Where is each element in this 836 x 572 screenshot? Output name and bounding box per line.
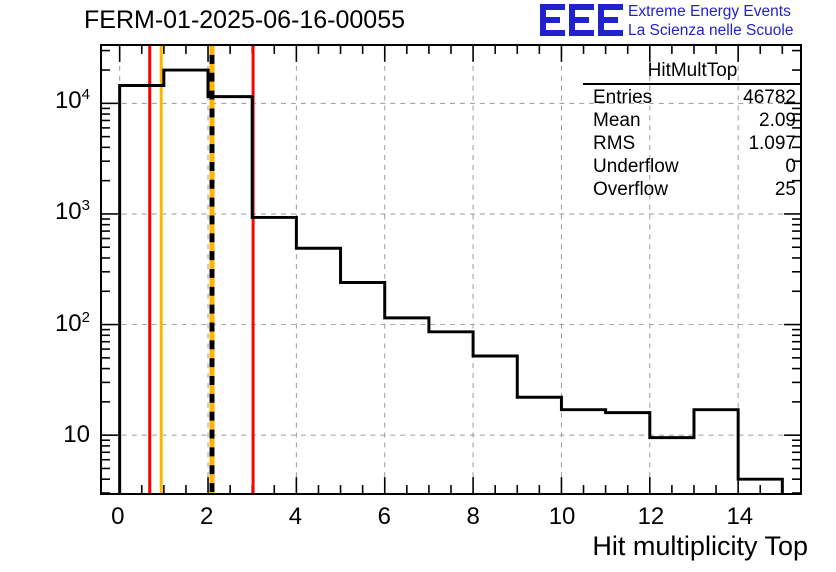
stats-row: Mean2.09 xyxy=(583,109,802,132)
marker-lines xyxy=(150,46,253,493)
x-tick-label: 10 xyxy=(532,503,592,531)
stats-row-label: RMS xyxy=(593,132,635,155)
stats-row: Entries46782 xyxy=(583,86,802,109)
stats-row-label: Underflow xyxy=(593,155,679,178)
y-tick-label: 10 xyxy=(20,421,90,449)
stats-row-value: 0 xyxy=(785,155,796,178)
stats-row-label: Mean xyxy=(593,109,641,132)
y-tick-label: 102 xyxy=(20,309,90,338)
stats-row: RMS1.097 xyxy=(583,132,802,155)
eee-logo: Extreme Energy Events La Scienza nelle S… xyxy=(540,2,832,42)
y-tick-label: 104 xyxy=(20,86,90,115)
eee-logo-line1: Extreme Energy Events xyxy=(628,2,793,21)
x-tick-label: 14 xyxy=(710,503,770,531)
stats-row-value: 1.097 xyxy=(748,132,796,155)
x-tick-label: 12 xyxy=(621,503,681,531)
stats-box: HitMultTop Entries46782Mean2.09RMS1.097U… xyxy=(583,60,802,201)
eee-logo-line2: La Scienza nelle Scuole xyxy=(628,21,793,40)
x-tick-label: 6 xyxy=(354,503,414,531)
x-axis-title: Hit multiplicity Top xyxy=(592,531,808,562)
x-tick-label: 8 xyxy=(443,503,503,531)
stats-row-value: 25 xyxy=(775,178,796,201)
y-tick-label: 103 xyxy=(20,197,90,226)
stats-box-rows: Entries46782Mean2.09RMS1.097Underflow0Ov… xyxy=(583,86,802,201)
x-tick-label: 0 xyxy=(88,503,148,531)
x-tick-label: 4 xyxy=(265,503,325,531)
stats-row: Overflow25 xyxy=(583,178,802,201)
x-tick-label: 2 xyxy=(177,503,237,531)
stats-row: Underflow0 xyxy=(583,155,802,178)
stats-row-label: Overflow xyxy=(593,178,668,201)
stats-row-value: 46782 xyxy=(743,86,796,109)
stats-box-rule xyxy=(583,83,802,85)
stats-row-label: Entries xyxy=(593,86,652,109)
stats-row-value: 2.09 xyxy=(759,109,796,132)
page-title: FERM-01-2025-06-16-00055 xyxy=(84,6,405,35)
stats-box-title: HitMultTop xyxy=(583,60,802,83)
eee-logo-text: Extreme Energy Events La Scienza nelle S… xyxy=(628,2,793,40)
eee-logo-mark xyxy=(540,3,624,37)
